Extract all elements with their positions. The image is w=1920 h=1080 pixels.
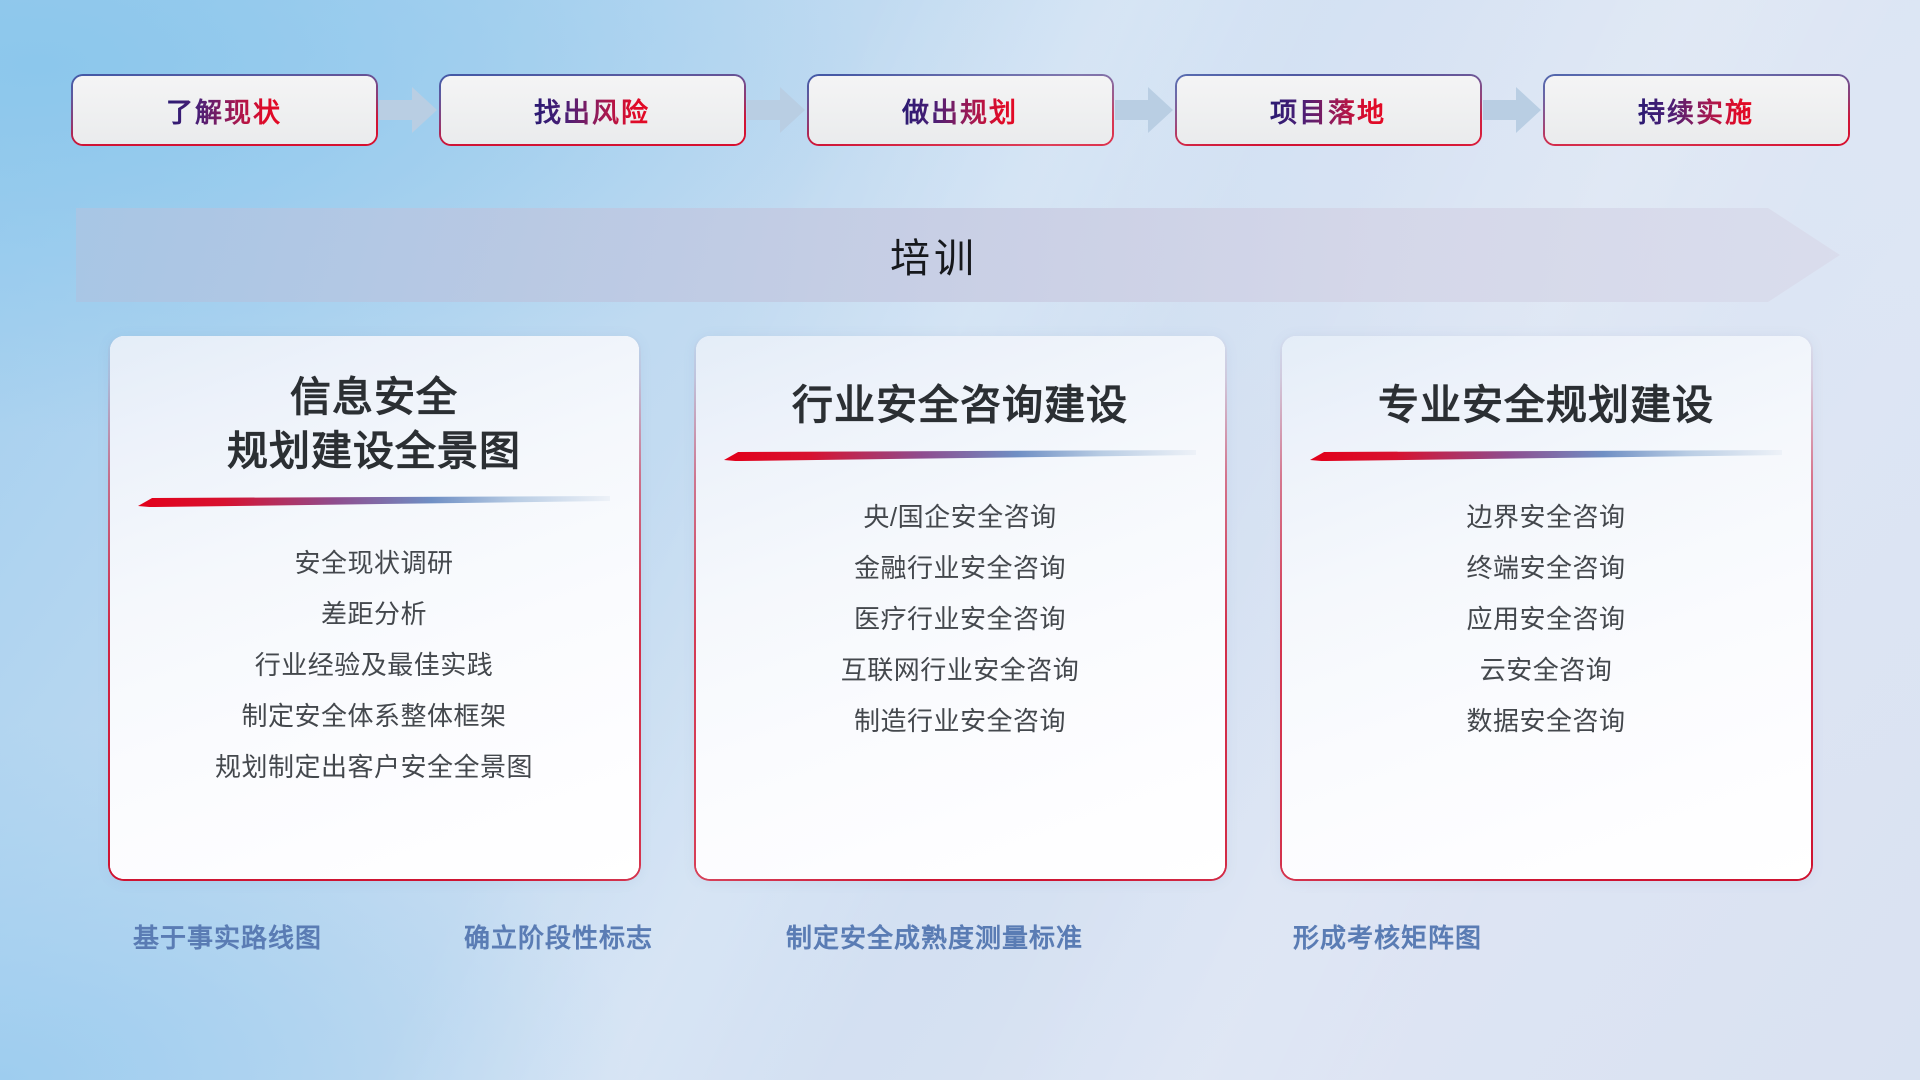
list-item: 制定安全体系整体框架	[241, 691, 506, 742]
list-item: 医疗行业安全咨询	[854, 594, 1066, 645]
step-arrow-icon-3	[1480, 84, 1545, 136]
card-0[interactable]: 信息安全 规划建设全景图	[110, 336, 639, 879]
card-inner-2: 专业安全规划建设	[1282, 336, 1811, 879]
card-1[interactable]: 行业安全咨询建设	[696, 336, 1225, 879]
step-arrow-icon-1	[744, 84, 809, 136]
process-step-row: 了解现状 找出风险 做出规划 项目落地 持续实施	[0, 76, 1920, 144]
list-item: 数据安全咨询	[1466, 696, 1625, 747]
card-list-wrap-2: 边界安全咨询 终端安全咨询 应用安全咨询 云安全咨询 数据安全咨询	[1310, 492, 1783, 747]
card-inner-1: 行业安全咨询建设	[696, 336, 1225, 879]
step-label-3: 项目落地	[1270, 91, 1386, 130]
step-label-1: 找出风险	[534, 91, 650, 130]
card-title-2: 专业安全规划建设	[1378, 378, 1714, 432]
card-divider-0	[138, 494, 611, 512]
step-label-2: 做出规划	[902, 91, 1018, 130]
card-2[interactable]: 专业安全规划建设	[1282, 336, 1811, 879]
list-item: 边界安全咨询	[1466, 492, 1625, 543]
list-item: 终端安全咨询	[1466, 543, 1625, 594]
step-label-0: 了解现状	[166, 91, 282, 130]
list-item: 央/国企安全咨询	[863, 492, 1056, 543]
card-inner-0: 信息安全 规划建设全景图	[110, 336, 639, 879]
card-list-1: 央/国企安全咨询 金融行业安全咨询 医疗行业安全咨询 互联网行业安全咨询 制造行…	[724, 492, 1197, 747]
bottom-label-2: 制定安全成熟度测量标准	[786, 918, 1083, 955]
bottom-label-3: 形成考核矩阵图	[1293, 918, 1482, 955]
bottom-label-row: 基于事实路线图 确立阶段性标志 制定安全成熟度测量标准 形成考核矩阵图	[0, 918, 1920, 962]
card-list-wrap-0: 安全现状调研 差距分析 行业经验及最佳实践 制定安全体系整体框架 规划制定出客户…	[138, 538, 611, 793]
step-box-2[interactable]: 做出规划	[809, 76, 1112, 144]
list-item: 互联网行业安全咨询	[841, 645, 1080, 696]
list-item: 应用安全咨询	[1466, 594, 1625, 645]
card-title-1: 行业安全咨询建设	[792, 378, 1128, 432]
step-label-4: 持续实施	[1638, 91, 1754, 130]
card-list-2: 边界安全咨询 终端安全咨询 应用安全咨询 云安全咨询 数据安全咨询	[1310, 492, 1783, 747]
card-row: 信息安全 规划建设全景图	[0, 336, 1920, 879]
list-item: 行业经验及最佳实践	[255, 640, 494, 691]
bottom-label-0: 基于事实路线图	[133, 918, 322, 955]
step-box-1[interactable]: 找出风险	[441, 76, 744, 144]
step-box-4[interactable]: 持续实施	[1545, 76, 1848, 144]
list-item: 云安全咨询	[1480, 645, 1613, 696]
bottom-label-1: 确立阶段性标志	[464, 918, 653, 955]
list-item: 制造行业安全咨询	[854, 696, 1066, 747]
list-item: 差距分析	[321, 589, 427, 640]
step-arrow-icon-2	[1112, 84, 1177, 136]
list-item: 金融行业安全咨询	[854, 543, 1066, 594]
list-item: 规划制定出客户安全全景图	[215, 742, 533, 793]
step-box-3[interactable]: 项目落地	[1177, 76, 1480, 144]
card-list-0: 安全现状调研 差距分析 行业经验及最佳实践 制定安全体系整体框架 规划制定出客户…	[138, 538, 611, 793]
card-divider-2	[1310, 448, 1783, 466]
card-divider-1	[724, 448, 1197, 466]
banner-title: 培训	[76, 208, 1840, 302]
step-box-0[interactable]: 了解现状	[73, 76, 376, 144]
list-item: 安全现状调研	[294, 538, 453, 589]
card-title-0: 信息安全 规划建设全景图	[227, 370, 521, 478]
card-list-wrap-1: 央/国企安全咨询 金融行业安全咨询 医疗行业安全咨询 互联网行业安全咨询 制造行…	[724, 492, 1197, 747]
training-banner: 培训	[76, 208, 1840, 302]
step-arrow-icon-0	[376, 84, 441, 136]
